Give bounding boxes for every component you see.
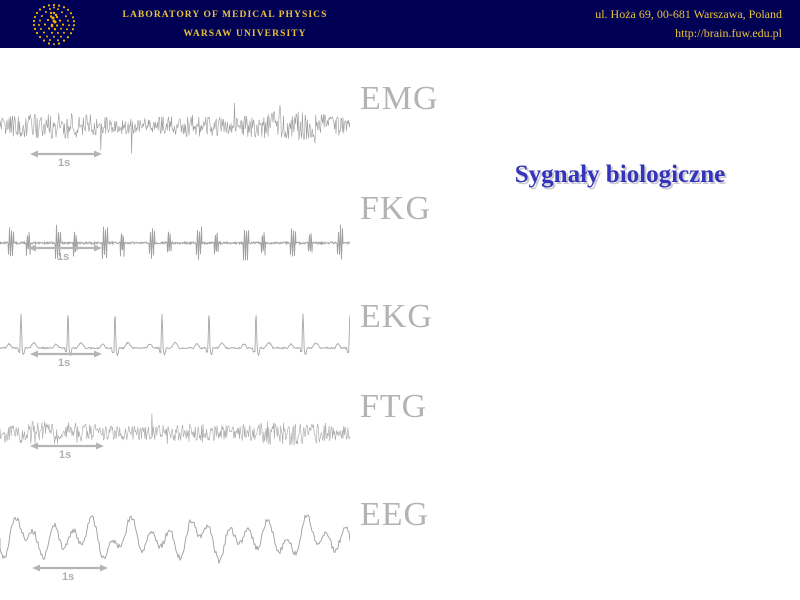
- signal-label-emg: EMG: [360, 80, 439, 118]
- header-address: ul. Hoża 69, 00-681 Warszawa, Poland: [595, 5, 782, 24]
- header-lab-line-2: WARSAW UNIVERSITY: [100, 25, 350, 44]
- signal-label-fkg: FKG: [360, 190, 431, 228]
- logo-svg: [22, 1, 86, 47]
- signal-trace-eeg: [0, 488, 350, 598]
- brain-stipple-logo-icon: [22, 1, 86, 47]
- header-bar: LABORATORY OF MEDICAL PHYSICS WARSAW UNI…: [0, 0, 800, 48]
- signal-label-eeg: EEG: [360, 496, 429, 534]
- header-lab-line-1: LABORATORY OF MEDICAL PHYSICS: [100, 6, 350, 25]
- scale-bar-caption-emg: 1s: [58, 157, 70, 169]
- header-lab-affiliation: LABORATORY OF MEDICAL PHYSICS WARSAW UNI…: [100, 6, 350, 44]
- signal-label-ekg: EKG: [360, 298, 433, 336]
- scale-bar-caption-fkg: 1s: [57, 251, 69, 263]
- scale-bar-caption-ekg: 1s: [58, 357, 70, 369]
- page-title: Sygnały biologiczne: [445, 161, 795, 189]
- scale-bar-caption-eeg: 1s: [62, 571, 74, 583]
- header-website-url[interactable]: http://brain.fuw.edu.pl: [595, 24, 782, 43]
- header-contact-info: ul. Hoża 69, 00-681 Warszawa, Poland htt…: [595, 5, 782, 43]
- biosignal-traces-panel: EMG1sFKG1sEKG1sFTG1sEEG1s: [0, 48, 450, 600]
- scale-bar-caption-ftg: 1s: [59, 449, 71, 461]
- trace-path: [0, 515, 350, 563]
- signal-label-ftg: FTG: [360, 388, 427, 426]
